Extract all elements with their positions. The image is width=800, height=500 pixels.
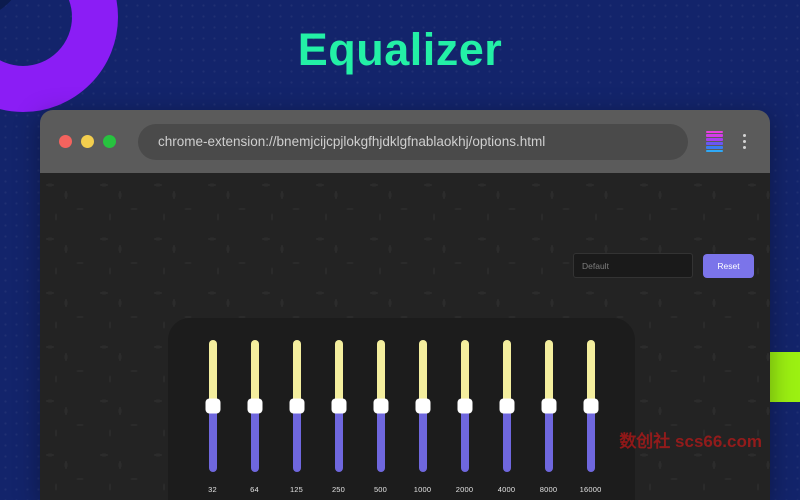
equalizer-slider[interactable]: 16000 [584,340,598,494]
equalizer-slider[interactable]: 32 [206,340,220,494]
slider-thumb[interactable] [457,399,472,414]
preset-controls: Reset [573,253,754,278]
slider-track[interactable] [293,340,301,472]
reset-button[interactable]: Reset [703,254,754,278]
equalizer-slider[interactable]: 2000 [458,340,472,494]
slider-track[interactable] [377,340,385,472]
slider-thumb[interactable] [373,399,388,414]
slider-track[interactable] [461,340,469,472]
slider-track[interactable] [251,340,259,472]
slider-thumb[interactable] [247,399,262,414]
slider-frequency-label: 2000 [456,485,474,494]
equalizer-bars-icon[interactable] [706,131,723,153]
slider-frequency-label: 500 [374,485,387,494]
slider-thumb[interactable] [415,399,430,414]
traffic-light-group [59,135,116,148]
slider-frequency-label: 1000 [414,485,432,494]
slider-track[interactable] [503,340,511,472]
slider-thumb[interactable] [499,399,514,414]
kebab-menu-icon[interactable] [735,131,753,153]
slider-thumb[interactable] [583,399,598,414]
slider-frequency-label: 250 [332,485,345,494]
slider-track[interactable] [587,340,595,472]
slider-track[interactable] [335,340,343,472]
equalizer-slider[interactable]: 4000 [500,340,514,494]
equalizer-slider[interactable]: 1000 [416,340,430,494]
slider-track[interactable] [545,340,553,472]
equalizer-slider-group: 3264125250500100020004000800016000 [168,318,635,500]
slider-track[interactable] [209,340,217,472]
slider-frequency-label: 4000 [498,485,516,494]
slider-frequency-label: 16000 [580,485,602,494]
watermark-text: 数创社 scs66.com [619,427,762,452]
slider-frequency-label: 125 [290,485,303,494]
equalizer-slider[interactable]: 250 [332,340,346,494]
extension-options-page: Reset 3264125250500100020004000800016000… [40,173,770,500]
slider-thumb[interactable] [331,399,346,414]
equalizer-slider[interactable]: 125 [290,340,304,494]
equalizer-card: 3264125250500100020004000800016000 [168,318,635,500]
slider-thumb[interactable] [205,399,220,414]
slider-frequency-label: 32 [208,485,217,494]
slider-frequency-label: 8000 [540,485,558,494]
equalizer-slider[interactable]: 500 [374,340,388,494]
browser-window: chrome-extension://bnemjcijcpjlokgfhjdkl… [40,110,770,500]
slider-thumb[interactable] [289,399,304,414]
close-window-dot[interactable] [59,135,72,148]
slider-frequency-label: 64 [250,485,259,494]
preset-name-input[interactable] [573,253,693,278]
equalizer-slider[interactable]: 8000 [542,340,556,494]
browser-toolbar: chrome-extension://bnemjcijcpjlokgfhjdkl… [40,110,770,173]
address-bar[interactable]: chrome-extension://bnemjcijcpjlokgfhjdkl… [138,124,688,160]
page-title: Equalizer [0,24,800,76]
equalizer-slider[interactable]: 64 [248,340,262,494]
minimize-window-dot[interactable] [81,135,94,148]
maximize-window-dot[interactable] [103,135,116,148]
address-bar-url: chrome-extension://bnemjcijcpjlokgfhjdkl… [158,134,545,149]
screenshot-stage: Equalizer chrome-extension://bnemjcijcpj… [0,0,800,500]
slider-thumb[interactable] [541,399,556,414]
slider-track[interactable] [419,340,427,472]
